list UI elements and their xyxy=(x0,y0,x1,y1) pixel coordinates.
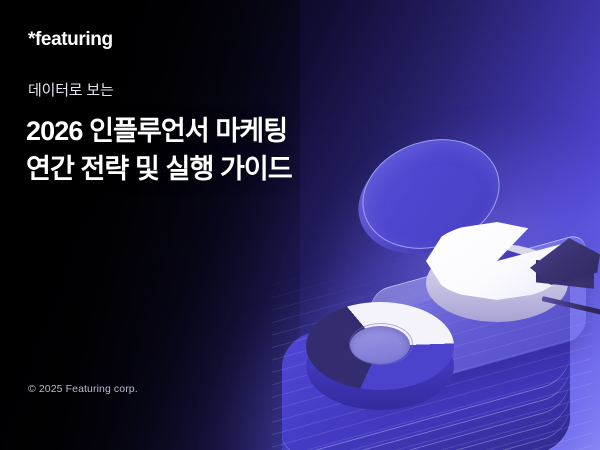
cover-headline: 2026 인플루언서 마케팅 연간 전략 및 실행 가이드 xyxy=(26,112,292,189)
headline-line-2: 연간 전략 및 실행 가이드 xyxy=(26,150,292,188)
brand-logo[interactable]: *featuring xyxy=(28,29,113,51)
cover-canvas: *featuring 데이터로 보는 2026 인플루언서 마케팅 연간 전략 … xyxy=(0,0,600,450)
copyright-notice: © 2025 Featuring corp. xyxy=(28,383,138,395)
cover-eyebrow: 데이터로 보는 xyxy=(28,79,114,100)
headline-line-1: 2026 인플루언서 마케팅 xyxy=(26,112,292,150)
